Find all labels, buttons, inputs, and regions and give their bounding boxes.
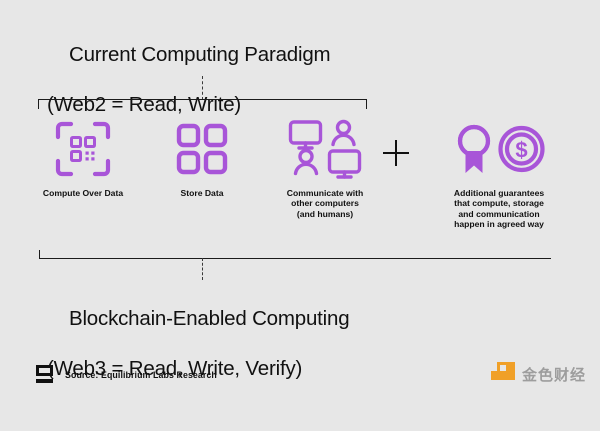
grid-squares-icon (160, 118, 244, 180)
bottom-heading-line-1: Blockchain-Enabled Computing (69, 307, 349, 330)
capability-caption: Store Data (160, 188, 244, 198)
dashed-connector-bottom (202, 258, 203, 280)
jinse-logo-icon (491, 362, 515, 386)
guarantee-caption: Additional guarantees that compute, stor… (424, 188, 574, 230)
bracket-top (38, 99, 367, 109)
source-attribution: Source: Equilibrium Labs Research (36, 365, 217, 384)
capability-compute-over-data: Compute Over Data (33, 118, 133, 198)
jinse-logo: 金色财经 (491, 362, 586, 386)
dashed-connector-top (202, 76, 203, 100)
capability-caption: Communicate with other computers (and hu… (266, 188, 384, 219)
guarantee-icons: $ (424, 118, 574, 180)
capability-caption: Compute Over Data (33, 188, 133, 198)
capability-store-data: Store Data (160, 118, 244, 198)
top-heading-line-1: Current Computing Paradigm (69, 43, 330, 66)
infographic-canvas: Current Computing Paradigm (Web2 = Read,… (0, 0, 600, 407)
capability-icon-row: Compute Over Data Store Data (0, 118, 600, 238)
brand-name: 金色财经 (522, 364, 586, 385)
plus-icon (383, 140, 409, 166)
source-text: Source: Equilibrium Labs Research (65, 370, 217, 380)
capability-communicate: Communicate with other computers (and hu… (266, 118, 384, 219)
svg-text:$: $ (515, 138, 527, 163)
source-mark-icon (36, 365, 53, 384)
bottom-section-heading: Blockchain-Enabled Computing (Web3 = Rea… (47, 281, 349, 431)
qr-scan-icon (33, 118, 133, 180)
monitors-and-people-icon (266, 118, 384, 180)
bracket-bottom (39, 250, 551, 259)
guarantee-group: $ Additional guarantees that compute, st… (424, 118, 574, 230)
